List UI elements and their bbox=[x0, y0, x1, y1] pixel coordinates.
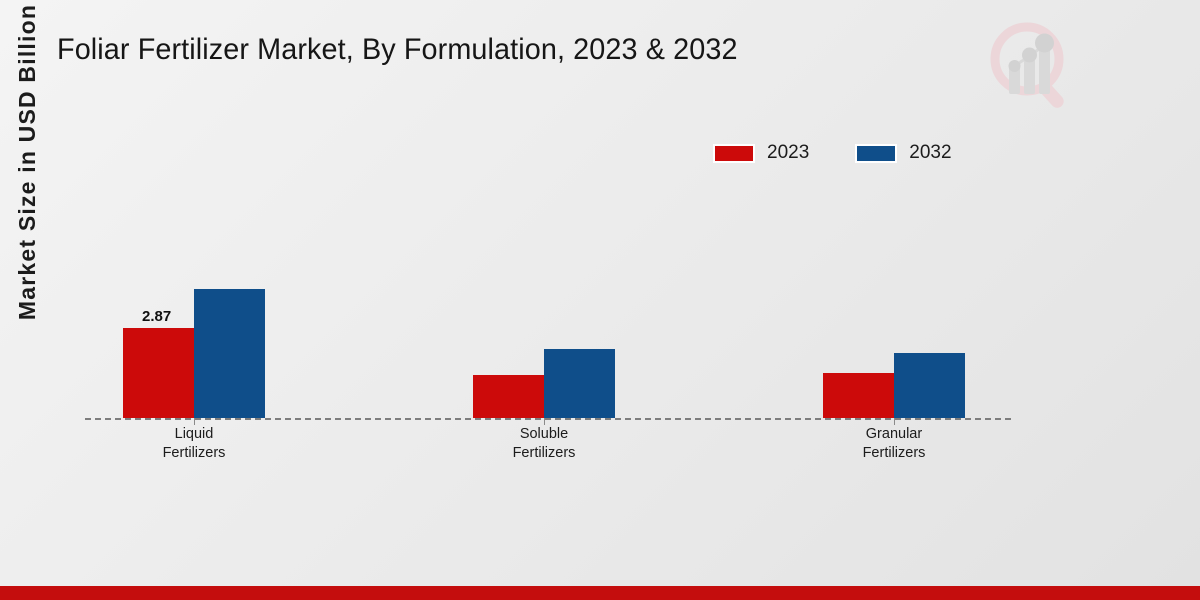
bar-2032-liquid-fertilizers[interactable] bbox=[194, 289, 265, 418]
x-category-label-granular-fertilizers: Granular Fertilizers bbox=[794, 425, 994, 463]
bar-2023-liquid-fertilizers[interactable] bbox=[123, 328, 194, 418]
bar-value-label: 2.87 bbox=[142, 308, 171, 325]
bar-2032-soluble-fertilizers[interactable] bbox=[544, 349, 615, 418]
x-tick-soluble-fertilizers bbox=[544, 418, 545, 425]
x-category-label-liquid-fertilizers: Liquid Fertilizers bbox=[94, 425, 294, 463]
category-line-2: Fertilizers bbox=[94, 444, 294, 463]
x-tick-liquid-fertilizers bbox=[194, 418, 195, 425]
bottom-accent-bar bbox=[0, 586, 1200, 600]
category-line-1: Liquid bbox=[94, 425, 294, 444]
plot-area: 2.87 Liquid Fertilizers Soluble Fertiliz… bbox=[0, 0, 1200, 600]
category-line-2: Fertilizers bbox=[794, 444, 994, 463]
bar-2032-granular-fertilizers[interactable] bbox=[894, 353, 965, 418]
bar-2023-soluble-fertilizers[interactable] bbox=[473, 375, 544, 418]
category-line-1: Granular bbox=[794, 425, 994, 444]
bar-2023-granular-fertilizers[interactable] bbox=[823, 373, 894, 418]
category-line-1: Soluble bbox=[444, 425, 644, 444]
x-tick-granular-fertilizers bbox=[894, 418, 895, 425]
x-axis-baseline bbox=[85, 418, 1011, 420]
chart-canvas: Foliar Fertilizer Market, By Formulation… bbox=[0, 0, 1200, 600]
category-line-2: Fertilizers bbox=[444, 444, 644, 463]
x-category-label-soluble-fertilizers: Soluble Fertilizers bbox=[444, 425, 644, 463]
